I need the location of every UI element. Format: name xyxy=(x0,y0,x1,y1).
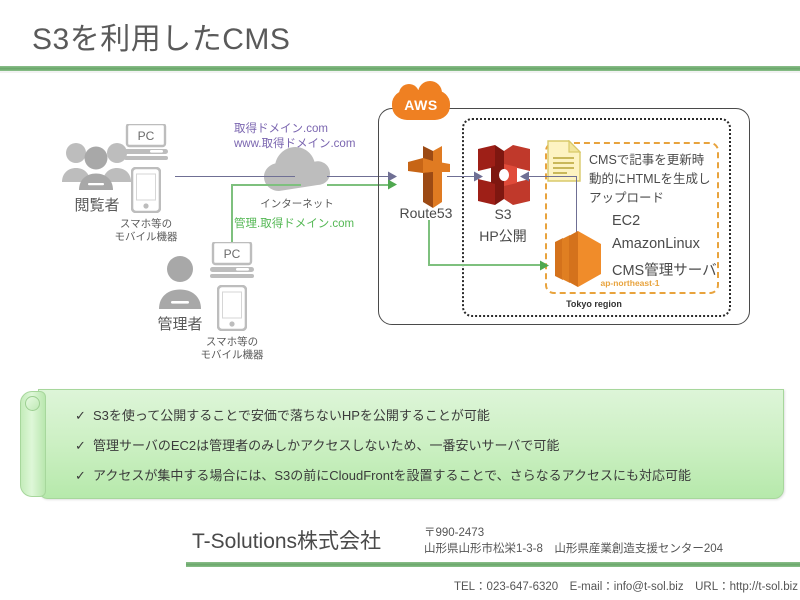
connector-admin-vertical xyxy=(231,184,233,242)
check-icon: ✓ xyxy=(75,403,93,429)
list-item: ✓ アクセスが集中する場合には、S3の前にCloudFrontを設置することで、… xyxy=(75,463,775,489)
cms-note-line3: アップロード xyxy=(589,187,664,206)
connector-route53-to-s3 xyxy=(447,176,477,177)
summary-bullet-list: ✓ S3を使って公開することで安価で落ちないHPを公開することが可能 ✓ 管理サ… xyxy=(75,403,775,493)
admin-label: 管理者 xyxy=(157,313,202,334)
connector-admin-to-cloud xyxy=(231,184,301,186)
company-name: T-Solutions株式会社 xyxy=(192,525,381,555)
viewer-mobile-icon xyxy=(131,167,161,213)
ec2-label-line1: EC2 xyxy=(612,213,640,229)
viewer-label: 閲覧者 xyxy=(74,194,119,215)
cms-note-line2: 動的にHTMLを生成し xyxy=(589,168,711,187)
ec2-label-line2: AmazonLinux xyxy=(612,236,700,252)
viewer-pc-label: PC xyxy=(138,129,155,143)
company-address: 山形県山形市松栄1-3-8 山形県産業創造支援センター204 xyxy=(424,540,723,556)
cms-note-line1: CMSで記事を更新時 xyxy=(589,149,704,168)
arrow-s3-upload xyxy=(518,171,529,182)
header-divider-shadow xyxy=(0,71,800,73)
domain-label-line2: www.取得ドメイン.com xyxy=(234,135,355,151)
aws-badge-label: AWS xyxy=(404,97,437,113)
contact-info: TEL：023-647-6320 E-mail：info@t-sol.biz U… xyxy=(454,578,798,594)
bullet-text: S3を使って公開することで安価で落ちないHPを公開することが可能 xyxy=(93,403,490,429)
domain-label-line1: 取得ドメイン.com xyxy=(234,120,328,136)
page-title: S3を利用したCMS xyxy=(32,14,290,58)
ec2-label-line3: CMS管理サーバ xyxy=(612,259,717,280)
list-item: ✓ 管理サーバのEC2は管理者のみしかアクセスしないため、一番安いサーバで可能 xyxy=(75,433,775,459)
check-icon: ✓ xyxy=(75,433,93,459)
list-item: ✓ S3を使って公開することで安価で落ちないHPを公開することが可能 xyxy=(75,403,775,429)
viewer-mobile-label-2: モバイル機器 xyxy=(115,229,178,244)
bullet-text: 管理サーバのEC2は管理者のみしかアクセスしないため、一番安いサーバで可能 xyxy=(93,433,559,459)
s3-label-line2: HP公開 xyxy=(479,226,526,246)
route53-label: Route53 xyxy=(400,205,453,221)
slide-canvas: S3を利用したCMS 閲覧者 PC スマホ等の モバイル機器 管理者 xyxy=(0,0,800,600)
s3-label-line1: S3 xyxy=(494,206,511,222)
viewers-group-icon xyxy=(60,136,134,192)
tokyo-region-label: Tokyo region xyxy=(562,299,626,309)
internet-label: インターネット xyxy=(260,196,334,211)
summary-panel: ✓ S3を使って公開することで安価で落ちないHPを公開することが可能 ✓ 管理サ… xyxy=(20,389,782,497)
ec2-icon xyxy=(549,228,607,290)
connector-route53-to-ec2-vertical xyxy=(428,220,430,265)
connector-ec2-to-s3-horizontal xyxy=(524,176,577,177)
bullet-text: アクセスが集中する場合には、S3の前にCloudFrontを設置することで、さら… xyxy=(93,463,691,489)
connector-route53-to-ec2-horizontal xyxy=(428,264,543,266)
postal-code: 〒990-2473 xyxy=(424,524,484,540)
aws-logo-badge: AWS xyxy=(392,90,450,120)
summary-panel-curl xyxy=(20,391,46,497)
footer-divider xyxy=(186,562,800,567)
admin-domain-label: 管理.取得ドメイン.com xyxy=(234,215,354,231)
admin-mobile-icon xyxy=(217,285,247,331)
check-icon: ✓ xyxy=(75,463,93,489)
admin-pc-label: PC xyxy=(224,247,241,261)
admin-mobile-label-2: モバイル機器 xyxy=(201,347,264,362)
admin-person-icon xyxy=(155,252,205,310)
connector-viewer-to-cloud xyxy=(175,176,295,177)
